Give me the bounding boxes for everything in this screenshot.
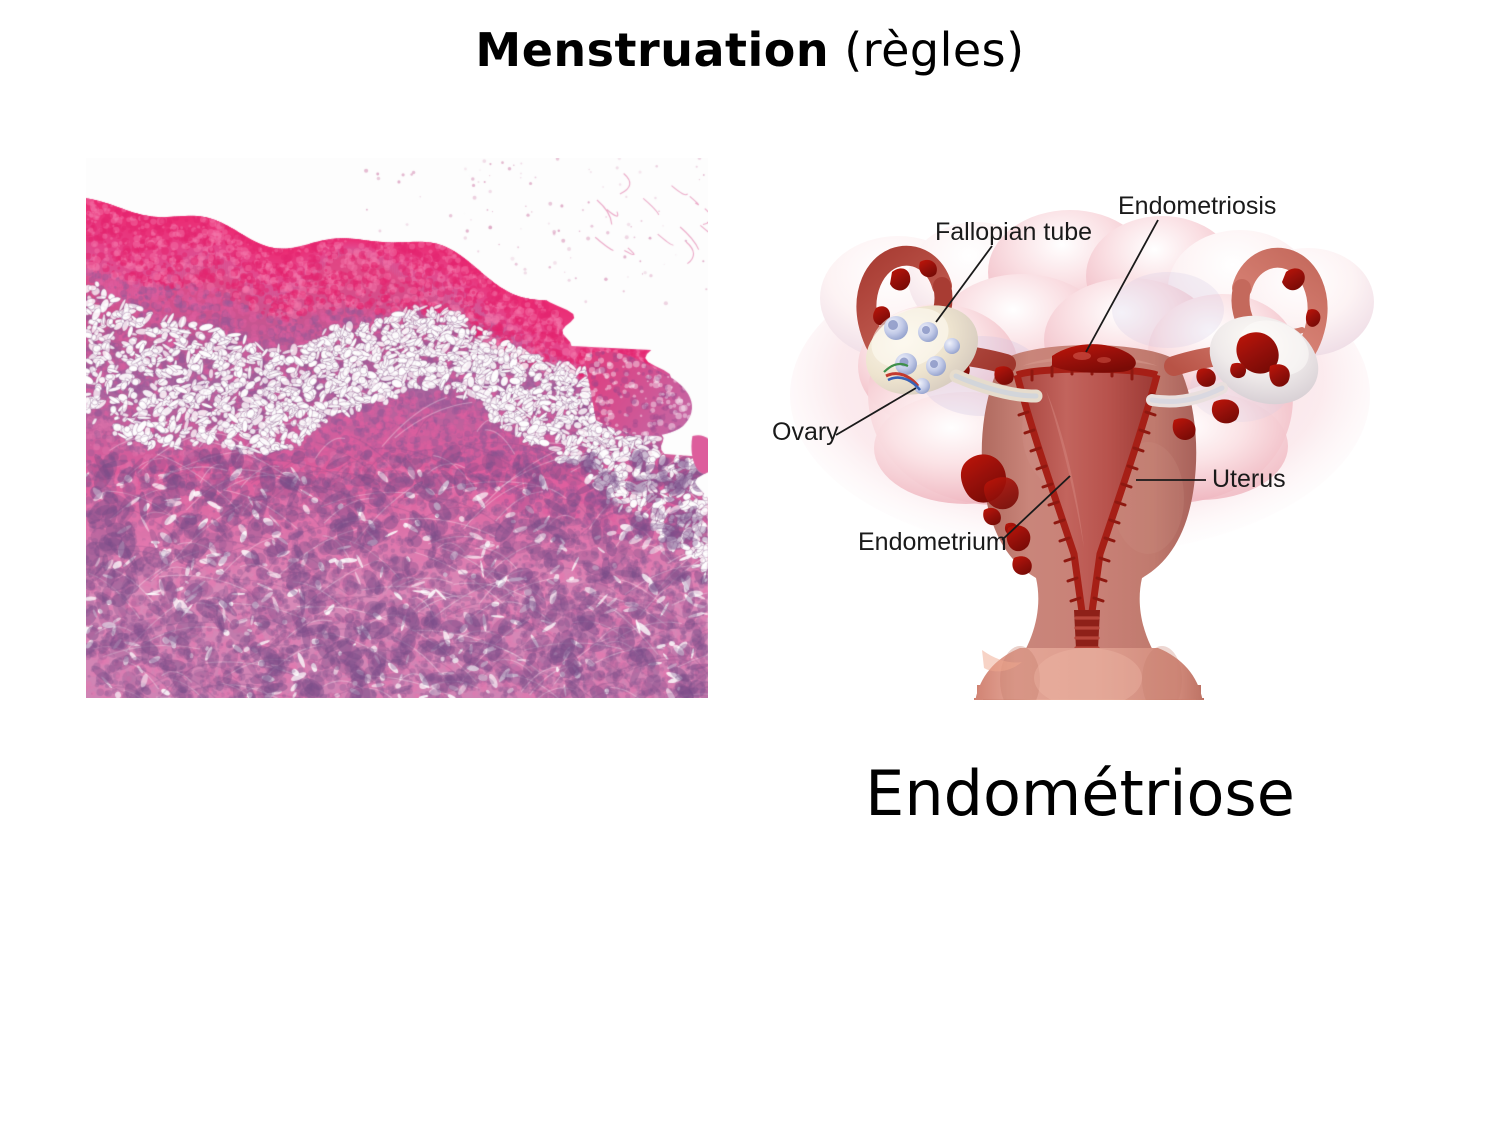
page-title-bold: Menstruation — [475, 23, 829, 77]
anatomy-label-endometriosis: Endometriosis — [1118, 192, 1276, 220]
anatomy-svg — [770, 180, 1390, 700]
anatomy-label-ovary: Ovary — [772, 418, 839, 446]
anatomy-label-uterus: Uterus — [1212, 465, 1286, 493]
anatomy-illustration: Fallopian tube Endometriosis Ovary Endom… — [770, 180, 1390, 700]
anatomy-label-endometrium: Endometrium — [858, 528, 1007, 556]
histology-micrograph — [86, 158, 708, 698]
anatomy-label-fallopian-tube: Fallopian tube — [935, 218, 1092, 246]
figure-caption: Endométriose — [770, 756, 1390, 832]
cervix-vagina-solid — [974, 646, 1205, 700]
page-title-regular: (règles) — [829, 23, 1024, 77]
histology-canvas — [86, 158, 708, 698]
page-title: Menstruation (règles) — [0, 22, 1500, 78]
